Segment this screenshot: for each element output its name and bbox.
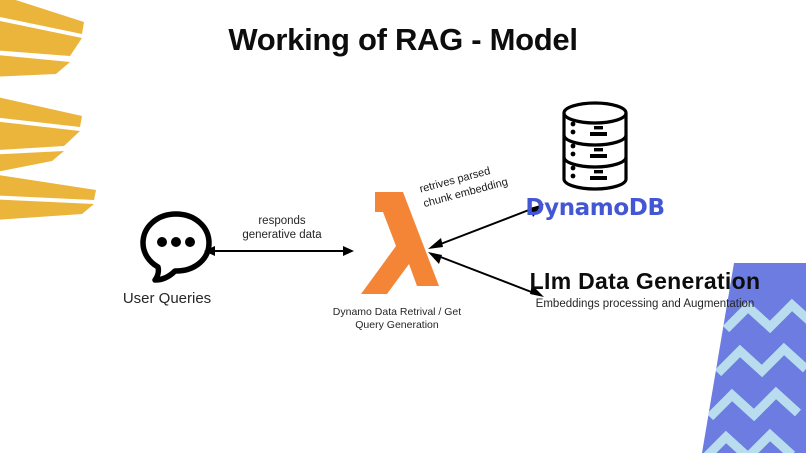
dynamodb-label: DynamoDB: [520, 195, 670, 221]
lambda-label-line-1: Dynamo Data Retrival / Get: [317, 306, 477, 319]
llm-subtitle: Embeddings processing and Augmentation: [520, 298, 770, 310]
connector-user-lambda-arrow: [204, 240, 354, 262]
llm-title: LIm Data Generation: [520, 268, 770, 295]
caption-line-1: responds: [232, 214, 332, 228]
page-title: Working of RAG - Model: [0, 22, 806, 58]
connector-user-lambda-caption: responds generative data: [232, 214, 332, 242]
database-cylinder-icon: [558, 100, 632, 192]
lambda-label: Dynamo Data Retrival / Get Query Generat…: [317, 306, 477, 332]
slide-canvas: Working of RAG - Model User Queries resp…: [0, 0, 806, 453]
node-dynamodb: DynamoDB: [520, 100, 670, 221]
lambda-label-line-2: Query Generation: [317, 319, 477, 332]
node-llm-data-generation: LIm Data Generation Embeddings processin…: [520, 268, 770, 310]
user-queries-label: User Queries: [108, 290, 226, 307]
